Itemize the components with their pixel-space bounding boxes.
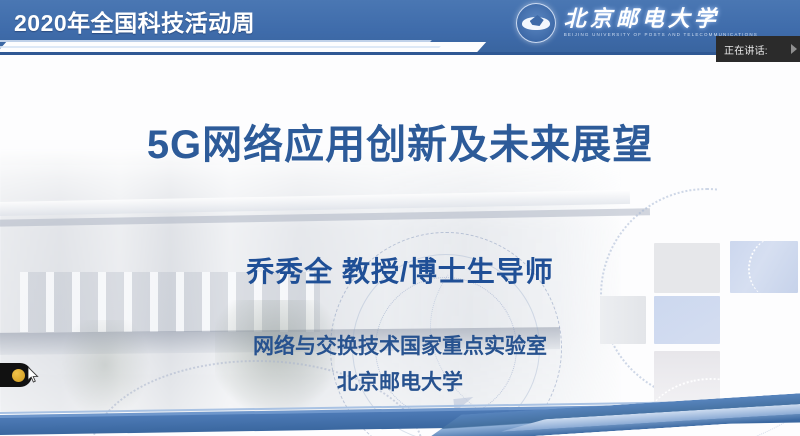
band-accent-line-1	[0, 46, 441, 48]
slide-affiliation-university: 北京邮电大学	[0, 366, 800, 396]
slide-affiliation-lab: 网络与交换技术国家重点实验室	[0, 330, 800, 360]
mouse-cursor	[28, 367, 39, 383]
chevron-right-icon[interactable]	[791, 44, 797, 54]
active-speaker-label: 正在讲话:	[724, 42, 768, 57]
bupt-dove-emblem-icon	[516, 3, 556, 43]
slide-title: 5G网络应用创新及未来展望	[0, 112, 800, 170]
tech-triangle-accent	[453, 397, 474, 412]
active-speaker-chip[interactable]: 正在讲话:	[716, 36, 800, 62]
presentation-screen: 2020年全国科技活动周 北京邮电大学 BEIJING UNIVERSITY O…	[0, 0, 800, 436]
university-logo-text: 北京邮电大学 BEIJING UNIVERSITY OF POSTS AND T…	[564, 8, 758, 38]
slide-speaker-line: 乔秀全 教授/博士生导师	[0, 250, 800, 290]
event-title: 2020年全国科技活动周	[14, 4, 255, 38]
band-accent-line-3	[0, 40, 432, 42]
mic-status-icon	[12, 369, 25, 382]
band-underline	[0, 52, 800, 55]
university-name-cn: 北京邮电大学	[564, 8, 758, 30]
